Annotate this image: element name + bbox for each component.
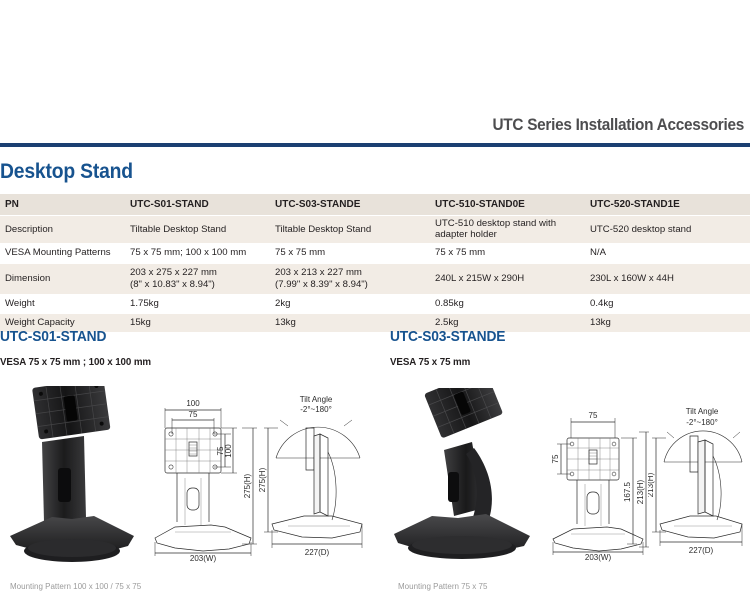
side-view-drawing-2: Tilt Angle -2°~180° 213(H) 227(D) [648, 392, 750, 564]
row-value: 15kg [125, 313, 270, 332]
row-value: 13kg [585, 313, 750, 332]
row-value: 75 x 75 mm; 100 x 100 mm [125, 243, 270, 263]
column-header-3: UTC-510-STAND0E [430, 194, 585, 216]
row-value: 0.4kg [585, 294, 750, 313]
tilt-angle-range-1: -2°~180° [300, 405, 332, 414]
row-value: Tiltable Desktop Stand [125, 216, 270, 244]
section-title: Desktop Stand [0, 160, 133, 184]
header-rule [0, 143, 750, 147]
row-value: 230L x 160W x 44H [585, 263, 750, 294]
dim-vesa-inner-h-1: 75 [189, 410, 198, 419]
row-value: 75 x 75 mm [270, 243, 430, 263]
tilt-angle-label-1: Tilt Angle [300, 395, 333, 404]
row-value: 75 x 75 mm [430, 243, 585, 263]
row-value-line1: 203 x 275 x 227 mm [130, 267, 266, 278]
product-photo-1 [2, 386, 142, 572]
dim-width-2: 203(W) [585, 553, 612, 562]
tilt-angle-label-2: Tilt Angle [686, 407, 719, 416]
row-value-line2: (8" x 10.83" x 8.94") [130, 279, 266, 290]
dim-height-side-2: 213(H) [648, 472, 655, 497]
row-value: 2kg [270, 294, 430, 313]
row-value: N/A [585, 243, 750, 263]
tilt-angle-range-2: -2°~180° [686, 418, 718, 427]
dim-width-1: 203(W) [190, 554, 217, 563]
product-subtitle-2: VESA 75 x 75 mm [390, 356, 470, 368]
dim-mid-height-2: 167.5 [623, 481, 632, 502]
column-header-1: UTC-S01-STAND [125, 194, 270, 216]
dim-vesa-h-2: 75 [589, 411, 598, 420]
dim-height-1: 275(H) [243, 473, 252, 498]
table-header-row: PN UTC-S01-STAND UTC-S03-STANDE UTC-510-… [0, 194, 750, 216]
spec-table: PN UTC-S01-STAND UTC-S03-STANDE UTC-510-… [0, 194, 750, 333]
product-title-1: UTC-S01-STAND [0, 328, 106, 345]
row-value: UTC-510 desktop stand with adapter holde… [430, 216, 585, 244]
row-value-line2: (7.99" x 8.39" x 8.94") [275, 279, 426, 290]
product-caption-1: Mounting Pattern 100 x 100 / 75 x 75 [10, 582, 141, 591]
product-photo-2 [388, 388, 538, 572]
row-value: 240L x 215W x 290H [430, 263, 585, 294]
product-subtitle-1: VESA 75 x 75 mm ; 100 x 100 mm [0, 356, 151, 368]
product-caption-2: Mounting Pattern 75 x 75 [398, 582, 487, 591]
row-label: Description [0, 216, 125, 244]
table-row: VESA Mounting Patterns 75 x 75 mm; 100 x… [0, 243, 750, 263]
row-value: 0.85kg [430, 294, 585, 313]
dim-vesa-outer-h-1: 100 [186, 399, 200, 408]
dim-height-side-1: 275(H) [258, 467, 267, 492]
row-value: UTC-520 desktop stand [585, 216, 750, 244]
row-label: VESA Mounting Patterns [0, 243, 125, 263]
row-value-line1: 203 x 213 x 227 mm [275, 267, 426, 278]
row-value: 1.75kg [125, 294, 270, 313]
table-row: Description Tiltable Desktop Stand Tilta… [0, 216, 750, 244]
row-label: Weight [0, 294, 125, 313]
dim-depth-2: 227(D) [689, 546, 714, 555]
row-value: 203 x 275 x 227 mm (8" x 10.83" x 8.94") [125, 263, 270, 294]
front-view-drawing-2: 75 75 [543, 392, 653, 564]
front-view-drawing-1: 100 75 [145, 392, 263, 564]
table-row: Dimension 203 x 275 x 227 mm (8" x 10.83… [0, 263, 750, 294]
column-header-2: UTC-S03-STANDE [270, 194, 430, 216]
column-header-4: UTC-520-STAND1E [585, 194, 750, 216]
dim-depth-1: 227(D) [305, 548, 330, 557]
column-header-pn: PN [0, 194, 125, 216]
side-view-drawing-1: Tilt Angle -2°~180° 275(H) 227(D) [258, 392, 380, 564]
table-row: Weight Capacity 15kg 13kg 2.5kg 13kg [0, 313, 750, 332]
row-label: Dimension [0, 263, 125, 294]
row-value: Tiltable Desktop Stand [270, 216, 430, 244]
dim-vesa-outer-v-1: 100 [224, 444, 233, 458]
product-title-2: UTC-S03-STANDE [390, 328, 505, 345]
running-head: UTC Series Installation Accessories [52, 116, 744, 135]
row-value: 203 x 213 x 227 mm (7.99" x 8.39" x 8.94… [270, 263, 430, 294]
table-row: Weight 1.75kg 2kg 0.85kg 0.4kg [0, 294, 750, 313]
dim-height-2: 213(H) [636, 479, 645, 504]
datasheet-page: UTC Series Installation Accessories Desk… [0, 0, 750, 591]
dim-vesa-v-2: 75 [551, 454, 560, 463]
